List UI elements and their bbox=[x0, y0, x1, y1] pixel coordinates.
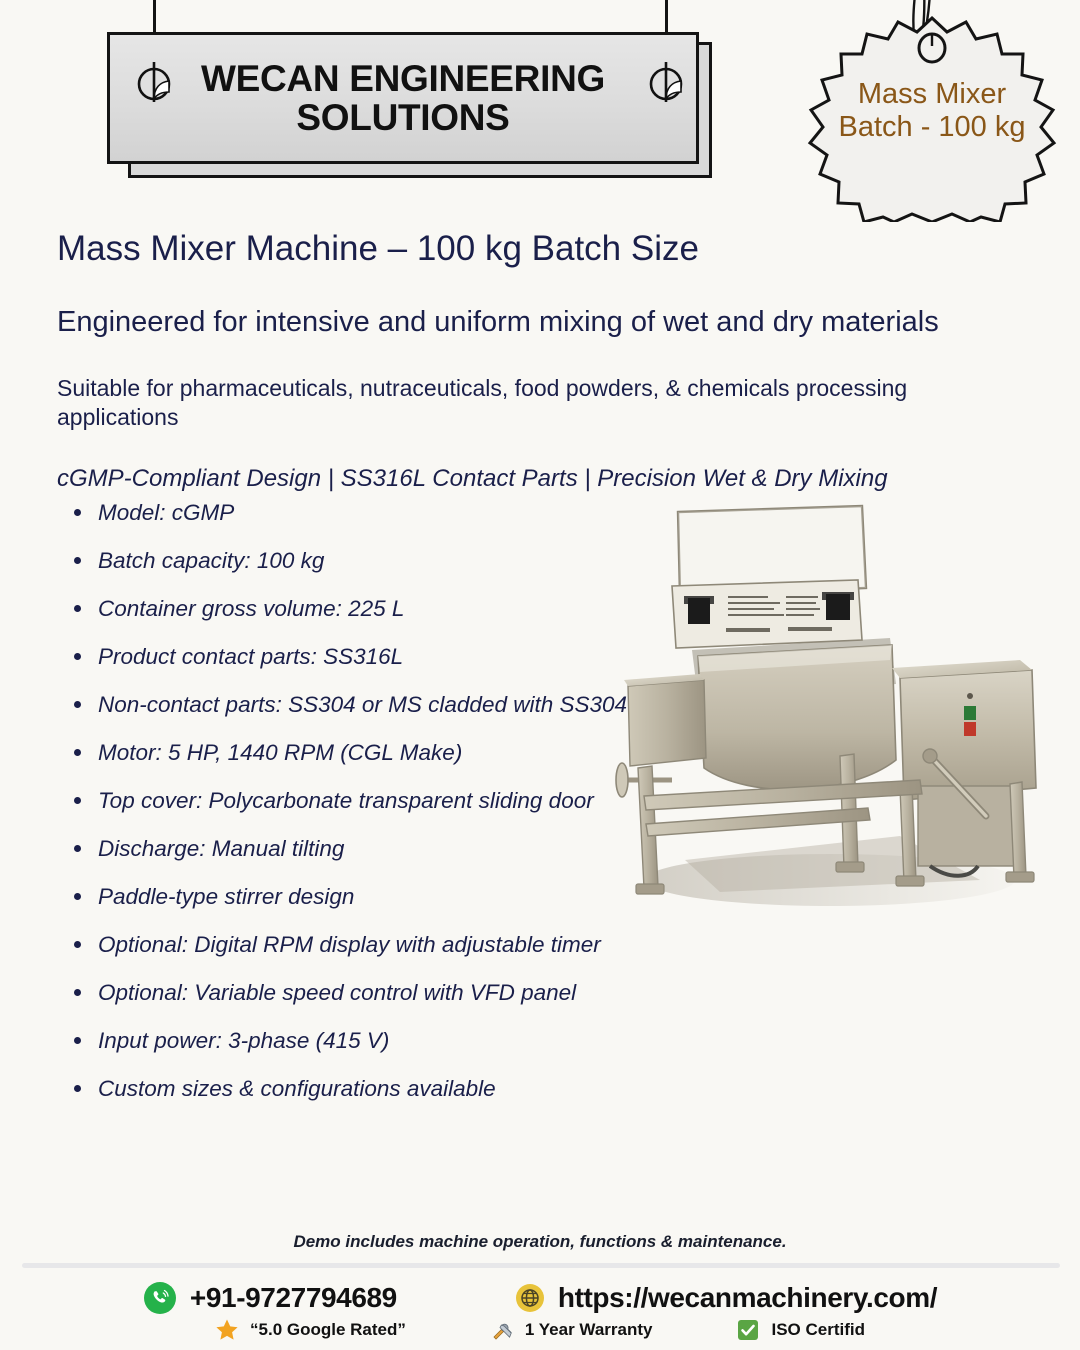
spec-list-item: Input power: 3-phase (415 V) bbox=[64, 1026, 664, 1055]
check-icon bbox=[736, 1318, 760, 1342]
signboard-front-panel: WECAN ENGINEERING SOLUTIONS bbox=[107, 32, 699, 164]
footer-divider bbox=[22, 1263, 1060, 1268]
phone-number: +91-9727794689 bbox=[190, 1282, 397, 1314]
spec-list-item: Model: cGMP bbox=[64, 498, 664, 527]
phone-contact[interactable]: +91-9727794689 bbox=[143, 1281, 397, 1315]
spec-list-item: Non-contact parts: SS304 or MS cladded w… bbox=[64, 690, 664, 719]
headline-copy-block: Mass Mixer Machine – 100 kg Batch Size E… bbox=[57, 228, 1042, 494]
spec-list-item: Top cover: Polycarbonate transparent sli… bbox=[64, 786, 664, 815]
trust-badge-label: 1 Year Warranty bbox=[525, 1320, 653, 1340]
spec-list-item: Motor: 5 HP, 1440 RPM (CGL Make) bbox=[64, 738, 664, 767]
spec-list-item: Optional: Variable speed control with VF… bbox=[64, 978, 664, 1007]
trust-badges-row: “5.0 Google Rated” 1 Year Warranty ISO C… bbox=[0, 1318, 1080, 1342]
company-name: WECAN ENGINEERING SOLUTIONS bbox=[155, 59, 651, 137]
spec-list-item: Discharge: Manual tilting bbox=[64, 834, 664, 863]
contact-row: +91-9727794689 https://wecanmachinery.co… bbox=[0, 1281, 1080, 1315]
spec-list-item: Container gross volume: 225 L bbox=[64, 594, 664, 623]
trust-badge-iso: ISO Certifid bbox=[736, 1318, 865, 1342]
product-title: Mass Mixer Machine – 100 kg Batch Size bbox=[57, 228, 1042, 269]
spec-list-item: Batch capacity: 100 kg bbox=[64, 546, 664, 575]
wecan-circle-logo-icon bbox=[133, 62, 175, 104]
spec-list-item: Custom sizes & configurations available bbox=[64, 1074, 664, 1103]
spec-list-item: Paddle-type stirrer design bbox=[64, 882, 664, 911]
applications-text: Suitable for pharmaceuticals, nutraceuti… bbox=[57, 374, 937, 432]
badge-label: Mass Mixer Batch - 100 kg bbox=[806, 78, 1058, 144]
spec-list-item: Product contact parts: SS316L bbox=[64, 642, 664, 671]
flyer-page: WECAN ENGINEERING SOLUTIONS Mass Mixer B… bbox=[0, 0, 1080, 1350]
wecan-circle-logo-icon bbox=[645, 62, 687, 104]
tools-icon bbox=[490, 1318, 514, 1342]
whatsapp-icon bbox=[143, 1281, 177, 1315]
trust-badge-warranty: 1 Year Warranty bbox=[490, 1318, 653, 1342]
spec-list-item: Optional: Digital RPM display with adjus… bbox=[64, 930, 664, 959]
specification-list: Model: cGMPBatch capacity: 100 kgContain… bbox=[64, 498, 664, 1122]
trust-badge-label: “5.0 Google Rated” bbox=[250, 1320, 406, 1340]
globe-icon bbox=[515, 1283, 545, 1313]
product-subtitle: Engineered for intensive and uniform mix… bbox=[57, 305, 1042, 340]
demo-note: Demo includes machine operation, functio… bbox=[0, 1232, 1080, 1252]
website-contact[interactable]: https://wecanmachinery.com/ bbox=[515, 1282, 937, 1314]
trust-badge-google-rating: “5.0 Google Rated” bbox=[215, 1318, 406, 1342]
trust-badge-label: ISO Certifid bbox=[771, 1320, 865, 1340]
website-url: https://wecanmachinery.com/ bbox=[558, 1282, 937, 1314]
star-icon bbox=[215, 1318, 239, 1342]
product-photo-mass-mixer bbox=[600, 488, 1052, 940]
batch-size-hang-tag: Mass Mixer Batch - 100 kg bbox=[806, 0, 1080, 222]
